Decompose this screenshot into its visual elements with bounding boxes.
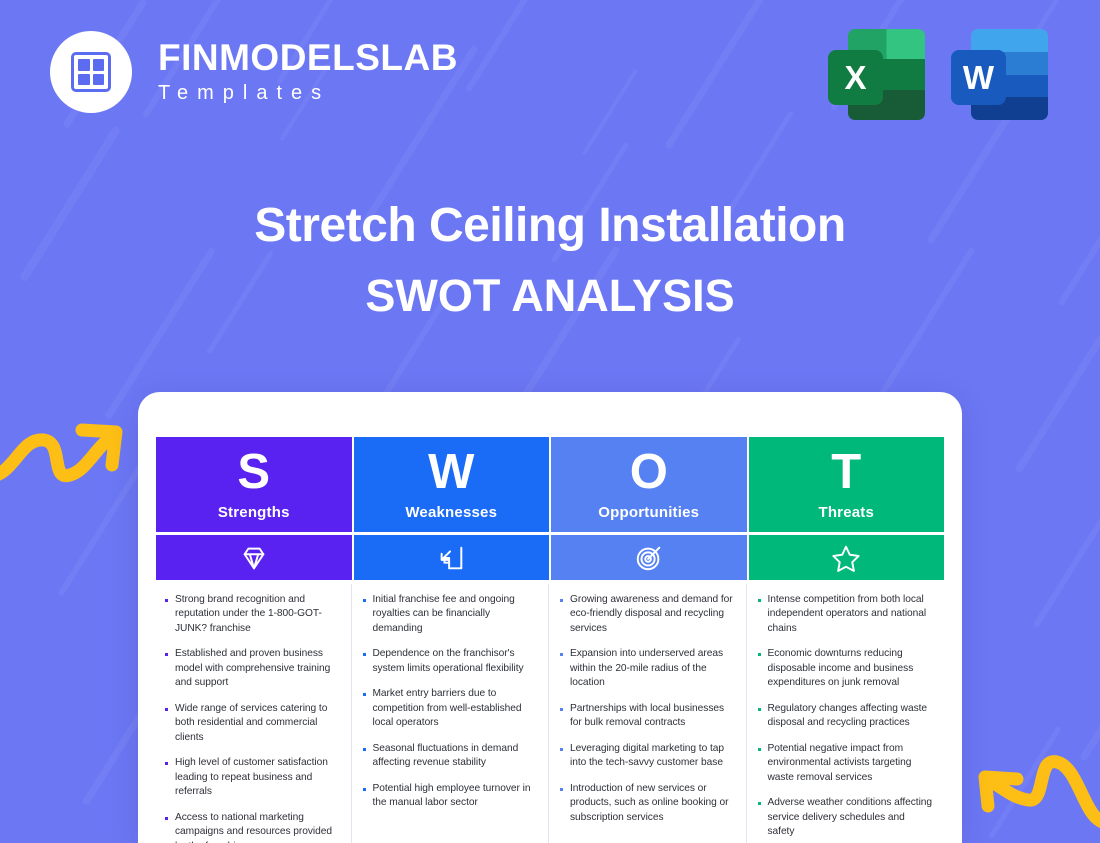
swot-header-row: SStrengthsWWeaknessesOOpportunitiesTThre… bbox=[156, 437, 944, 532]
bullet-icon bbox=[758, 708, 761, 711]
list-item-text: Adverse weather conditions affecting ser… bbox=[768, 796, 933, 839]
office-format-badges: X W bbox=[828, 27, 1048, 122]
swot-list-opportunities: Growing awareness and demand for eco-fri… bbox=[551, 580, 747, 843]
bullet-icon bbox=[560, 708, 563, 711]
list-item: Partnerships with local businesses for b… bbox=[560, 702, 735, 731]
swot-icon-row bbox=[156, 532, 944, 580]
swot-list-strengths: Strong brand recognition and reputation … bbox=[156, 580, 352, 843]
swot-header-opportunities[interactable]: OOpportunities bbox=[551, 437, 747, 532]
list-item-text: Strong brand recognition and reputation … bbox=[175, 593, 340, 636]
swot-letter-strengths: S bbox=[237, 448, 270, 497]
swot-list-threats: Intense competition from both local inde… bbox=[749, 580, 945, 843]
list-item-text: Initial franchise fee and ongoing royalt… bbox=[373, 593, 538, 636]
list-item-text: Dependence on the franchisor's system li… bbox=[373, 647, 538, 676]
list-item: Potential high employee turnover in the … bbox=[363, 782, 538, 811]
diamond-icon bbox=[239, 543, 269, 573]
word-letter: W bbox=[951, 50, 1006, 105]
bullet-icon bbox=[560, 653, 563, 656]
list-item: High level of customer satisfaction lead… bbox=[165, 756, 340, 799]
excel-letter: X bbox=[828, 50, 883, 105]
squiggle-arrow-down-left-icon bbox=[972, 748, 1100, 843]
list-item-text: Introduction of new services or products… bbox=[570, 782, 735, 825]
bullet-icon bbox=[758, 748, 761, 751]
list-item-text: Wide range of services catering to both … bbox=[175, 702, 340, 745]
bullet-icon bbox=[363, 599, 366, 602]
list-item-text: Growing awareness and demand for eco-fri… bbox=[570, 593, 735, 636]
list-item-text: Seasonal fluctuations in demand affectin… bbox=[373, 742, 538, 771]
list-item-text: Intense competition from both local inde… bbox=[768, 593, 933, 636]
list-item: Strong brand recognition and reputation … bbox=[165, 593, 340, 636]
brand-text: FINMODELSLAB Templates bbox=[158, 39, 458, 105]
list-item: Potential negative impact from environme… bbox=[758, 742, 933, 785]
list-item: Intense competition from both local inde… bbox=[758, 593, 933, 636]
brand-tagline: Templates bbox=[158, 82, 458, 105]
list-item: Leveraging digital marketing to tap into… bbox=[560, 742, 735, 771]
excel-icon: X bbox=[828, 27, 925, 122]
bullet-icon bbox=[363, 653, 366, 656]
page-title: Stretch Ceiling Installation bbox=[0, 196, 1100, 256]
list-item-text: Regulatory changes affecting waste dispo… bbox=[768, 702, 933, 731]
texture-stroke bbox=[1015, 334, 1100, 473]
logo-mark bbox=[50, 31, 132, 113]
page-title-block: Stretch Ceiling Installation SWOT ANALYS… bbox=[0, 196, 1100, 322]
swot-letter-threats: T bbox=[831, 448, 861, 497]
list-item-text: Potential high employee turnover in the … bbox=[373, 782, 538, 811]
list-item: Expansion into underserved areas within … bbox=[560, 647, 735, 690]
swot-header-threats[interactable]: TThreats bbox=[749, 437, 945, 532]
swot-icon-cell-opportunities bbox=[551, 535, 747, 580]
descending-stairs-icon bbox=[436, 543, 466, 573]
swot-header-strengths[interactable]: SStrengths bbox=[156, 437, 352, 532]
swot-label-strengths: Strengths bbox=[218, 504, 290, 521]
bullet-icon bbox=[363, 693, 366, 696]
swot-list-weaknesses: Initial franchise fee and ongoing royalt… bbox=[354, 580, 550, 843]
list-item-text: Potential negative impact from environme… bbox=[768, 742, 933, 785]
list-item: Initial franchise fee and ongoing royalt… bbox=[363, 593, 538, 636]
list-item: Introduction of new services or products… bbox=[560, 782, 735, 825]
bullet-icon bbox=[165, 762, 168, 765]
page-subtitle: SWOT ANALYSIS bbox=[0, 270, 1100, 322]
list-item-text: High level of customer satisfaction lead… bbox=[175, 756, 340, 799]
brand-logo: FINMODELSLAB Templates bbox=[50, 31, 458, 113]
bullet-icon bbox=[363, 748, 366, 751]
bullet-icon bbox=[165, 708, 168, 711]
swot-card: SStrengthsWWeaknessesOOpportunitiesTThre… bbox=[138, 392, 962, 843]
brand-name: FINMODELSLAB bbox=[158, 39, 458, 78]
star-icon bbox=[831, 543, 861, 573]
list-item-text: Partnerships with local businesses for b… bbox=[570, 702, 735, 731]
list-item: Dependence on the franchisor's system li… bbox=[363, 647, 538, 676]
grid-squares-icon bbox=[71, 52, 111, 92]
bullet-icon bbox=[560, 748, 563, 751]
swot-letter-weaknesses: W bbox=[428, 448, 474, 497]
list-item: Economic downturns reducing disposable i… bbox=[758, 647, 933, 690]
bullet-icon bbox=[165, 653, 168, 656]
list-item-text: Established and proven business model wi… bbox=[175, 647, 340, 690]
list-item-text: Leveraging digital marketing to tap into… bbox=[570, 742, 735, 771]
list-item: Wide range of services catering to both … bbox=[165, 702, 340, 745]
list-item: Established and proven business model wi… bbox=[165, 647, 340, 690]
swot-label-opportunities: Opportunities bbox=[598, 504, 699, 521]
list-item: Access to national marketing campaigns a… bbox=[165, 811, 340, 843]
list-item: Market entry barriers due to competition… bbox=[363, 687, 538, 730]
list-item: Seasonal fluctuations in demand affectin… bbox=[363, 742, 538, 771]
texture-stroke bbox=[1033, 498, 1100, 628]
bullet-icon bbox=[165, 817, 168, 820]
list-item: Growing awareness and demand for eco-fri… bbox=[560, 593, 735, 636]
swot-label-weaknesses: Weaknesses bbox=[405, 504, 497, 521]
bullet-icon bbox=[560, 599, 563, 602]
swot-body-row: Strong brand recognition and reputation … bbox=[156, 580, 944, 843]
bullet-icon bbox=[363, 788, 366, 791]
bullet-icon bbox=[758, 802, 761, 805]
list-item: Adverse weather conditions affecting ser… bbox=[758, 796, 933, 839]
bullet-icon bbox=[560, 788, 563, 791]
list-item-text: Market entry barriers due to competition… bbox=[373, 687, 538, 730]
swot-icon-cell-strengths bbox=[156, 535, 352, 580]
header: FINMODELSLAB Templates X W bbox=[0, 0, 1100, 150]
list-item: Regulatory changes affecting waste dispo… bbox=[758, 702, 933, 731]
swot-letter-opportunities: O bbox=[630, 448, 668, 497]
swot-icon-cell-weaknesses bbox=[354, 535, 550, 580]
list-item-text: Access to national marketing campaigns a… bbox=[175, 811, 340, 843]
swot-icon-cell-threats bbox=[749, 535, 945, 580]
list-item-text: Economic downturns reducing disposable i… bbox=[768, 647, 933, 690]
swot-header-weaknesses[interactable]: WWeaknesses bbox=[354, 437, 550, 532]
target-icon bbox=[634, 543, 664, 573]
list-item-text: Expansion into underserved areas within … bbox=[570, 647, 735, 690]
bullet-icon bbox=[758, 599, 761, 602]
texture-stroke bbox=[1079, 605, 1100, 761]
bullet-icon bbox=[165, 599, 168, 602]
bullet-icon bbox=[758, 653, 761, 656]
word-icon: W bbox=[951, 27, 1048, 122]
squiggle-arrow-up-right-icon bbox=[0, 403, 127, 488]
swot-label-threats: Threats bbox=[818, 504, 874, 521]
